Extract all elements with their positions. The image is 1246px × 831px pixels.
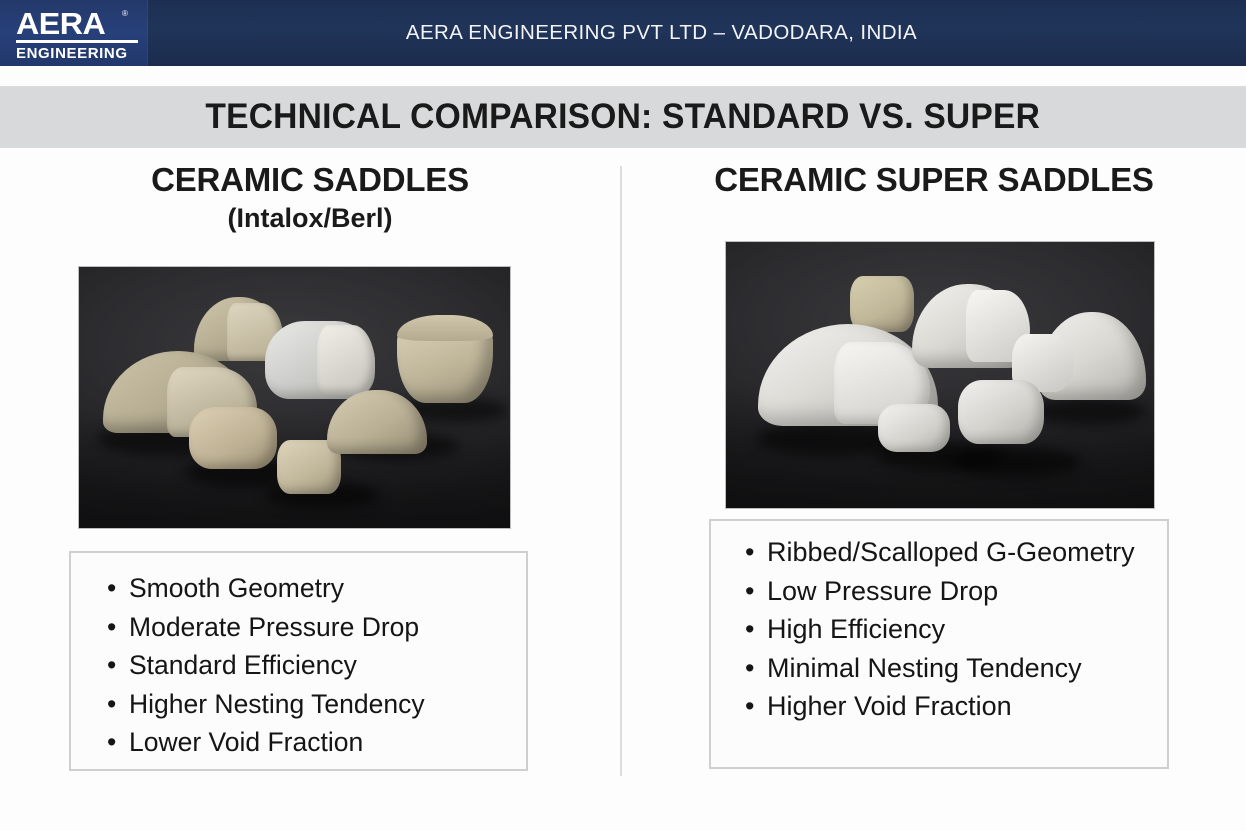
column-divider xyxy=(620,166,622,776)
left-features-box: Smooth Geometry Moderate Pressure Drop S… xyxy=(69,551,528,771)
left-column-subheading: (Intalox/Berl) xyxy=(0,202,620,235)
title-band: TECHNICAL COMPARISON: STANDARD VS. SUPER xyxy=(0,86,1246,148)
aera-logo: AERA ® ENGINEERING xyxy=(16,9,138,63)
list-item: Lower Void Fraction xyxy=(107,723,512,762)
list-item: Higher Void Fraction xyxy=(745,687,1153,726)
list-item: Minimal Nesting Tendency xyxy=(745,649,1153,688)
column-standard-saddles: CERAMIC SADDLES (Intalox/Berl) xyxy=(0,160,620,235)
ceramic-super-saddle-piece-small xyxy=(878,404,950,452)
ceramic-saddle-piece-tan xyxy=(850,276,914,332)
registered-trademark-icon: ® xyxy=(122,10,128,18)
left-column-heading: CERAMIC SADDLES xyxy=(0,160,620,200)
list-item: Higher Nesting Tendency xyxy=(107,685,512,724)
ceramic-saddle-piece xyxy=(189,407,277,469)
logo-panel[interactable]: AERA ® ENGINEERING xyxy=(0,0,147,66)
photo-ceramic-super-saddles xyxy=(726,242,1154,508)
list-item: Standard Efficiency xyxy=(107,646,512,685)
ceramic-super-saddle-piece-small xyxy=(958,380,1044,444)
slide: AERA ® ENGINEERING AERA ENGINEERING PVT … xyxy=(0,0,1246,831)
list-item: Smooth Geometry xyxy=(107,569,512,608)
logo-wordmark: AERA xyxy=(16,9,105,39)
logo-wordmark-wrap: AERA ® xyxy=(16,9,138,39)
photo-ceramic-saddles xyxy=(79,267,510,528)
list-item: Ribbed/Scalloped G-Geometry xyxy=(745,533,1153,572)
column-super-saddles: CERAMIC SUPER SADDLES xyxy=(622,160,1246,200)
logo-subtitle: ENGINEERING xyxy=(16,45,138,63)
ceramic-super-saddle-rib xyxy=(317,325,375,395)
left-features-list: Smooth Geometry Moderate Pressure Drop S… xyxy=(71,553,526,772)
right-features-box: Ribbed/Scalloped G-Geometry Low Pressure… xyxy=(709,519,1169,769)
shadow xyxy=(951,447,1081,477)
list-item: High Efficiency xyxy=(745,610,1153,649)
header-bar: AERA ® ENGINEERING AERA ENGINEERING PVT … xyxy=(0,0,1246,66)
right-column-heading: CERAMIC SUPER SADDLES xyxy=(622,160,1246,200)
list-item: Moderate Pressure Drop xyxy=(107,608,512,647)
list-item: Low Pressure Drop xyxy=(745,572,1153,611)
page-title: TECHNICAL COMPARISON: STANDARD VS. SUPER xyxy=(206,97,1041,137)
company-name-text: AERA ENGINEERING PVT LTD – VADODARA, IND… xyxy=(147,0,1246,66)
right-features-list: Ribbed/Scalloped G-Geometry Low Pressure… xyxy=(711,521,1167,736)
shadow xyxy=(1026,397,1146,425)
